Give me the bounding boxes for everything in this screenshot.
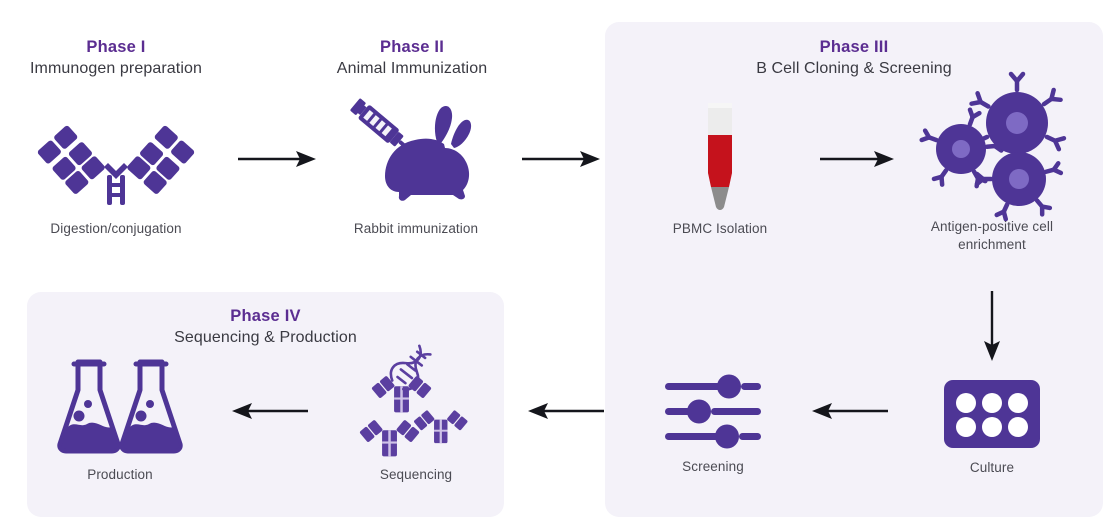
phase-2-subtitle: Animal Immunization xyxy=(296,58,528,80)
step-production: Production xyxy=(20,352,220,484)
sliders-icon xyxy=(613,372,813,452)
step-culture: Culture xyxy=(892,375,1092,477)
phase-4-title: Phase IV xyxy=(27,305,504,327)
arrow-2 xyxy=(522,148,602,170)
step-immunogen-caption: Digestion/conjugation xyxy=(16,220,216,238)
phase-2-title: Phase II xyxy=(296,36,528,58)
antibody-y-icon xyxy=(16,112,216,214)
phase-2-header: Phase II Animal Immunization xyxy=(296,36,528,81)
arrow-7 xyxy=(232,400,308,422)
phase-3-header: Phase III B Cell Cloning & Screening xyxy=(605,36,1103,81)
step-production-caption: Production xyxy=(20,466,220,484)
arrow-5 xyxy=(812,400,888,422)
rabbit-syringe-icon xyxy=(316,88,516,214)
step-enrichment-caption-line2: enrichment xyxy=(892,236,1092,254)
b-cells-icon xyxy=(892,86,1092,212)
step-immunogen: Digestion/conjugation xyxy=(16,112,216,238)
step-sequencing: Sequencing xyxy=(316,340,516,484)
arrow-6 xyxy=(528,400,604,422)
phase-1-subtitle: Immunogen preparation xyxy=(0,58,232,80)
step-pbmc: PBMC Isolation xyxy=(620,100,820,238)
step-culture-caption: Culture xyxy=(892,459,1092,477)
arrow-4 xyxy=(981,291,1003,363)
step-immunization-caption: Rabbit immunization xyxy=(316,220,516,238)
step-screening: Screening xyxy=(613,372,813,476)
step-screening-caption: Screening xyxy=(613,458,813,476)
phase-3-subtitle: B Cell Cloning & Screening xyxy=(605,58,1103,80)
antibodies-dna-icon xyxy=(316,340,516,460)
step-enrichment-caption-line1: Antigen-positive cell xyxy=(892,218,1092,236)
phase-1-header: Phase I Immunogen preparation xyxy=(0,36,232,81)
flasks-icon xyxy=(20,352,220,460)
well-plate-icon xyxy=(892,375,1092,453)
step-enrichment-caption: Antigen-positive cell enrichment xyxy=(892,218,1092,254)
centrifuge-tube-icon xyxy=(620,100,820,214)
step-enrichment: Antigen-positive cell enrichment xyxy=(892,86,1092,254)
arrow-3 xyxy=(820,148,896,170)
step-sequencing-caption: Sequencing xyxy=(316,466,516,484)
step-pbmc-caption: PBMC Isolation xyxy=(620,220,820,238)
arrow-1 xyxy=(238,148,318,170)
phase-3-title: Phase III xyxy=(605,36,1103,58)
phase-1-title: Phase I xyxy=(0,36,232,58)
step-immunization: Rabbit immunization xyxy=(316,88,516,238)
